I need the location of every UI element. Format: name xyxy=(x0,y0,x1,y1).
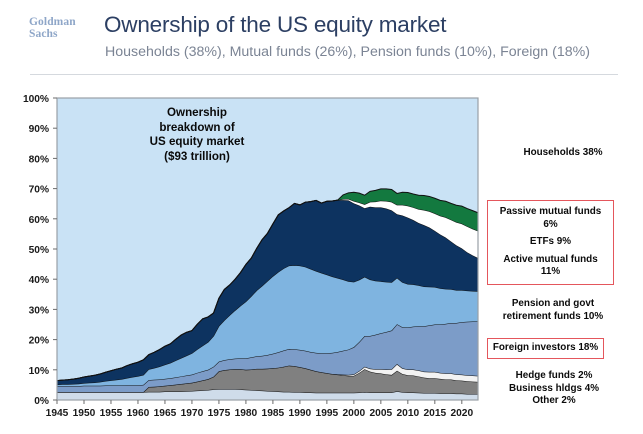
y-tick-label: 70% xyxy=(29,185,49,196)
y-tick-label: 100% xyxy=(23,94,49,105)
annotation-active-label: Active mutual funds xyxy=(490,254,611,267)
y-tick-label: 40% xyxy=(29,275,49,286)
x-tick-label: 1985 xyxy=(262,408,285,419)
plot-caption-line-3: US equity market xyxy=(108,135,286,150)
y-tick-label: 60% xyxy=(29,215,49,226)
chart-container: 0%10%20%30%40%50%60%70%80%90%100%1945195… xyxy=(0,86,643,434)
x-tick-label: 1975 xyxy=(208,408,231,419)
x-tick-label: 1955 xyxy=(100,408,123,419)
annotation-pension: Pension and govt retirement funds 10% xyxy=(490,298,616,323)
x-tick-label: 2020 xyxy=(450,408,473,419)
annotation-pension-line-1: Pension and govt xyxy=(490,298,616,311)
y-tick-label: 20% xyxy=(29,336,49,347)
x-tick-label: 2005 xyxy=(370,408,393,419)
x-tick-label: 2015 xyxy=(423,408,446,419)
y-tick-label: 0% xyxy=(34,396,49,407)
x-tick-label: 1980 xyxy=(235,408,258,419)
x-tick-label: 1990 xyxy=(289,408,312,419)
x-tick-label: 1950 xyxy=(73,408,96,419)
x-tick-label: 2000 xyxy=(343,408,366,419)
annotation-foreign-text: Foreign investors 18% xyxy=(490,342,601,355)
plot-caption: Ownership breakdown of US equity market … xyxy=(108,106,286,164)
logo-line-2: Sachs xyxy=(29,29,95,41)
annotation-households-text: Households 38% xyxy=(497,147,629,160)
annotation-households: Households 38% xyxy=(497,147,629,160)
annotation-mutual-funds-box: Passive mutual funds 6% ETFs 9% Active m… xyxy=(487,200,614,285)
plot-caption-line-2: breakdown of xyxy=(108,121,286,136)
y-tick-label: 80% xyxy=(29,154,49,165)
page-title: Ownership of the US equity market xyxy=(104,12,446,38)
annotation-etfs: ETFs 9% xyxy=(490,236,611,249)
page-subtitle: Households (38%), Mutual funds (26%), Pe… xyxy=(105,44,590,60)
goldman-sachs-logo: Goldman Sachs xyxy=(29,17,95,40)
annotation-business-holdings: Business hldgs 4% xyxy=(492,383,616,396)
x-tick-label: 2010 xyxy=(396,408,419,419)
annotation-active-value: 11% xyxy=(490,266,611,279)
logo-line-1: Goldman xyxy=(29,17,95,29)
annotation-passive-label: Passive mutual funds xyxy=(490,206,611,219)
annotation-other-holders: Hedge funds 2% Business hldgs 4% Other 2… xyxy=(492,370,616,408)
x-tick-label: 1965 xyxy=(154,408,177,419)
y-tick-label: 10% xyxy=(29,366,49,377)
page-header: Goldman Sachs Ownership of the US equity… xyxy=(0,0,643,78)
x-tick-label: 1995 xyxy=(316,408,339,419)
annotation-other: Other 2% xyxy=(492,395,616,408)
y-tick-label: 30% xyxy=(29,305,49,316)
annotation-hedge-funds: Hedge funds 2% xyxy=(492,370,616,383)
annotation-foreign-box: Foreign investors 18% xyxy=(487,338,604,359)
y-tick-label: 50% xyxy=(29,245,49,256)
x-tick-label: 1970 xyxy=(181,408,204,419)
annotation-pension-line-2: retirement funds 10% xyxy=(490,311,616,324)
plot-caption-line-4: ($93 trillion) xyxy=(108,150,286,165)
x-tick-label: 1960 xyxy=(127,408,150,419)
plot-caption-line-1: Ownership xyxy=(108,106,286,121)
x-tick-label: 1945 xyxy=(46,408,69,419)
annotation-passive-value: 6% xyxy=(490,219,611,232)
y-tick-label: 90% xyxy=(29,124,49,135)
header-divider xyxy=(30,74,618,75)
